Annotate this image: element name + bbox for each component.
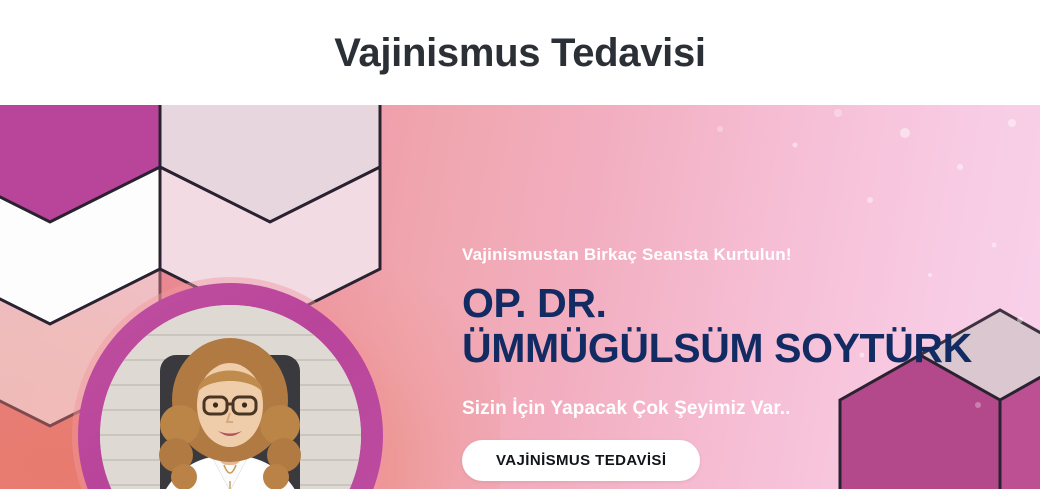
- banner-tagline: Sizin İçin Yapacak Çok Şeyimiz Var..: [462, 398, 1040, 420]
- doctor-photo: [100, 305, 361, 489]
- vajinismus-tedavisi-button[interactable]: VAJİNİSMUS TEDAVİSİ: [462, 440, 700, 481]
- doctor-photo-frame: [78, 283, 383, 489]
- hero-banner: Vajinismustan Birkaç Seansta Kurtulun! O…: [0, 105, 1040, 489]
- banner-eyebrow: Vajinismustan Birkaç Seansta Kurtulun!: [462, 245, 1040, 265]
- page-title: Vajinismus Tedavisi: [334, 33, 706, 73]
- banner-text-column: Vajinismustan Birkaç Seansta Kurtulun! O…: [462, 245, 1040, 489]
- doctor-name-line2: ÜMMÜGÜLSÜM SOYTÜRK: [462, 326, 1040, 370]
- doctor-name-line1: OP. DR.: [462, 280, 607, 326]
- page-header: Vajinismus Tedavisi: [0, 0, 1040, 105]
- doctor-portrait-illustration: [100, 305, 361, 489]
- doctor-name: OP. DR. ÜMMÜGÜLSÜM SOYTÜRK: [462, 281, 1040, 370]
